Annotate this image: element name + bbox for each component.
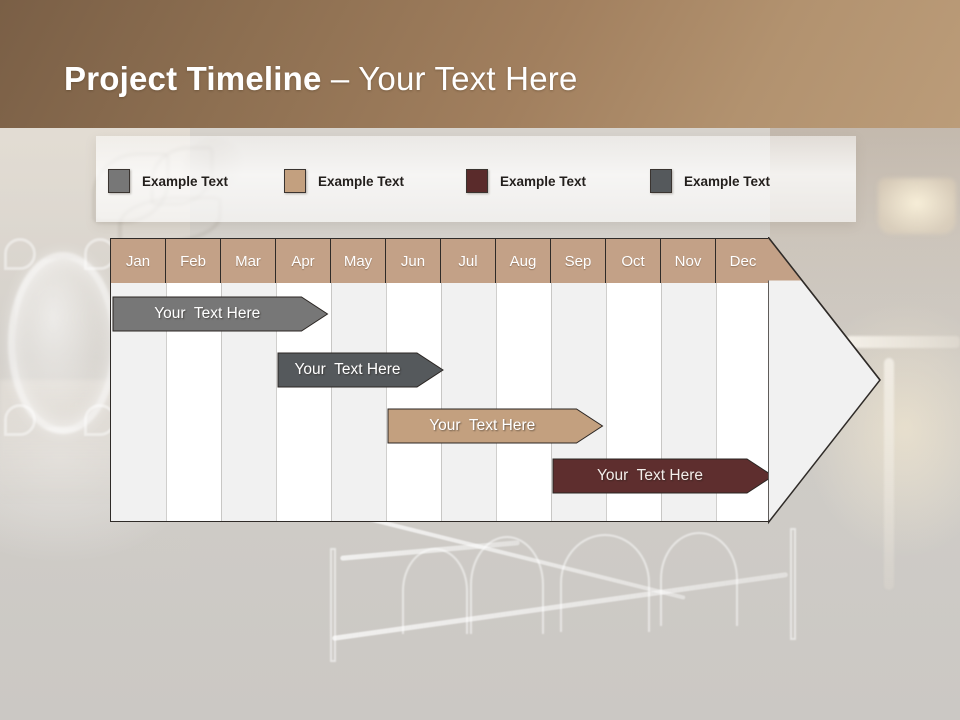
legend-item-label: Example Text	[142, 174, 228, 189]
month-header-jul[interactable]: Jul	[441, 239, 496, 283]
timeline-bar-2[interactable]: Your Text Here	[278, 353, 443, 387]
mirror-scroll-ornament	[4, 404, 36, 436]
page-title: Project Timeline – Your Text Here	[64, 58, 578, 100]
column-divider	[386, 283, 387, 521]
timeline-bar-4[interactable]: Your Text Here	[553, 459, 770, 493]
color-swatch-icon	[108, 169, 130, 193]
background-lamp-icon	[878, 178, 956, 234]
timeline-bar-3[interactable]: Your Text Here	[388, 409, 603, 443]
background-table-leg	[884, 358, 894, 590]
color-swatch-icon	[284, 169, 306, 193]
month-header-nov[interactable]: Nov	[661, 239, 716, 283]
background-bed-post	[790, 528, 796, 640]
color-swatch-icon	[650, 169, 672, 193]
timeline-bar-shape	[553, 459, 770, 493]
month-header-oct[interactable]: Oct	[606, 239, 661, 283]
column-divider	[551, 283, 552, 521]
month-header-aug[interactable]: Aug	[496, 239, 551, 283]
column-divider	[331, 283, 332, 521]
month-header-jan[interactable]: Jan	[111, 239, 166, 283]
month-header-feb[interactable]: Feb	[166, 239, 221, 283]
timeline-bar-shape	[388, 409, 603, 443]
presentation-slide: Project Timeline – Your Text Here Exampl…	[0, 0, 960, 720]
page-title-bold: Project Timeline	[64, 60, 322, 97]
page-title-rest: – Your Text Here	[322, 60, 578, 97]
legend-item-1: Example Text	[108, 168, 228, 194]
month-header-sep[interactable]: Sep	[551, 239, 606, 283]
timeline-grid: JanFebMarAprMayJunJulAugSepOctNovDecYour…	[110, 238, 770, 522]
legend-item-label: Example Text	[318, 174, 404, 189]
month-header-apr[interactable]: Apr	[276, 239, 331, 283]
month-header-mar[interactable]: Mar	[221, 239, 276, 283]
color-swatch-icon	[466, 169, 488, 193]
timeline-bar-shape	[278, 353, 443, 387]
legend-item-3: Example Text	[466, 168, 586, 194]
legend-item-2: Example Text	[284, 168, 404, 194]
month-header-jun[interactable]: Jun	[386, 239, 441, 283]
timeline-chart: JanFebMarAprMayJunJulAugSepOctNovDecYour…	[110, 238, 880, 524]
legend-item-4: Example Text	[650, 168, 770, 194]
month-header-may[interactable]: May	[331, 239, 386, 283]
month-header-dec[interactable]: Dec	[716, 239, 770, 283]
timeline-arrow-tip-icon	[768, 237, 880, 523]
legend-item-label: Example Text	[500, 174, 586, 189]
background-bed-scroll	[660, 532, 738, 626]
background-bed-post	[330, 548, 336, 662]
column-divider	[496, 283, 497, 521]
timeline-bar-shape	[113, 297, 328, 331]
background-bed-scroll	[402, 548, 468, 634]
legend-item-label: Example Text	[684, 174, 770, 189]
mirror-scroll-ornament	[4, 238, 36, 270]
timeline-bar-1[interactable]: Your Text Here	[113, 297, 328, 331]
legend: Example TextExample TextExample TextExam…	[108, 168, 848, 194]
column-divider	[441, 283, 442, 521]
